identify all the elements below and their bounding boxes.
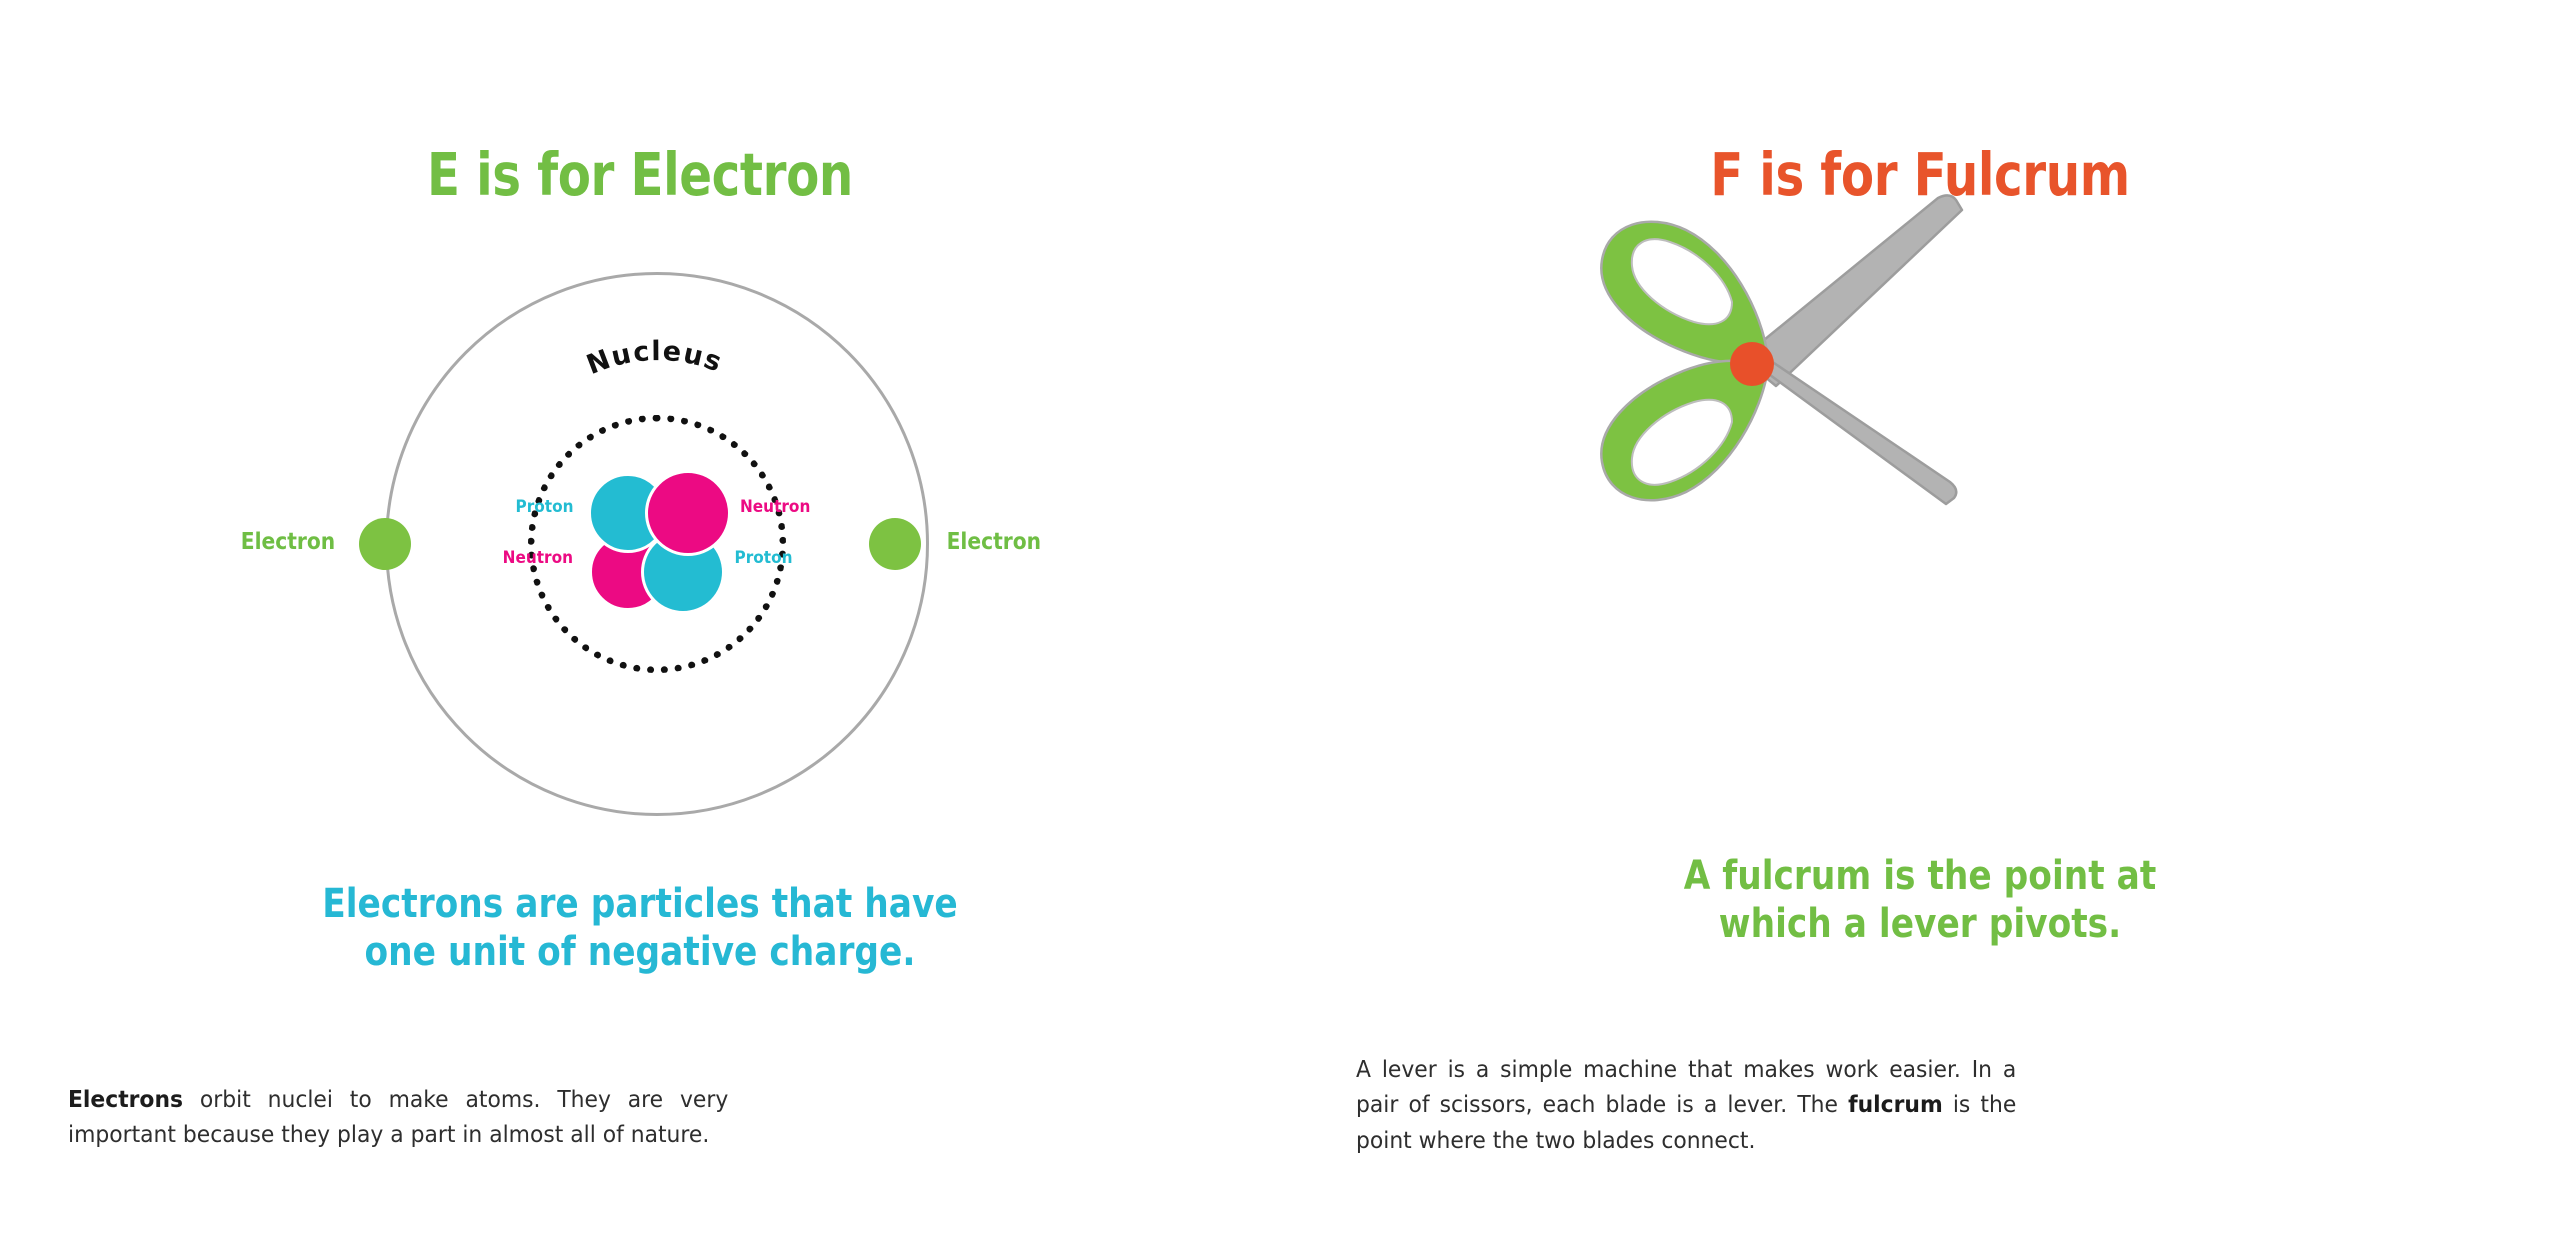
nucleon-label-neutron-top-right: Neutron (740, 497, 866, 517)
scissors-svg (1590, 190, 2010, 510)
caption-electron: Electrons are particles that have one un… (90, 880, 1191, 977)
panel-fulcrum: F is for Fulcrum A fulcrum is th (1280, 0, 2560, 1260)
nucleon-label-proton-top-left: Proton (457, 497, 574, 517)
nucleon-label-proton-bottom-right: Proton (735, 548, 852, 568)
scissors-blade-upper (1742, 195, 1962, 386)
scissors-diagram (1280, 180, 2560, 520)
page-root: E is for Electron Electron Electron Prot… (0, 0, 2560, 1260)
caption-fulcrum-line-2: which a lever pivots. (1370, 900, 2471, 948)
panel-electron: E is for Electron Electron Electron Prot… (0, 0, 1280, 1260)
electron-particle-right (869, 518, 921, 570)
body-bold-fulcrum: fulcrum (1848, 1090, 1943, 1118)
fulcrum-pivot-dot (1730, 342, 1774, 386)
caption-electron-line-1: Electrons are particles that have (90, 880, 1191, 928)
caption-fulcrum: A fulcrum is the point at which a lever … (1370, 852, 2471, 949)
body-paragraph-fulcrum: A lever is a simple machine that makes w… (1356, 1052, 2016, 1159)
nucleus-arc-label-svg: Nucleus (478, 358, 838, 488)
electron-particle-left (359, 518, 411, 570)
page-title-electron: E is for Electron (115, 140, 1165, 209)
body-paragraph-electron: Electrons orbit nuclei to make atoms. Th… (68, 1082, 728, 1153)
atom-diagram: Electron Electron Proton Neutron Neutron… (0, 248, 1280, 858)
electron-label-right: Electron (947, 529, 1088, 555)
body-lead-electrons: Electrons (68, 1085, 183, 1113)
caption-fulcrum-line-1: A fulcrum is the point at (1370, 852, 2471, 900)
caption-electron-line-2: one unit of negative charge. (90, 928, 1191, 976)
electron-label-left: Electron (221, 529, 335, 555)
nucleon-label-neutron-bottom-left: Neutron (447, 548, 573, 568)
